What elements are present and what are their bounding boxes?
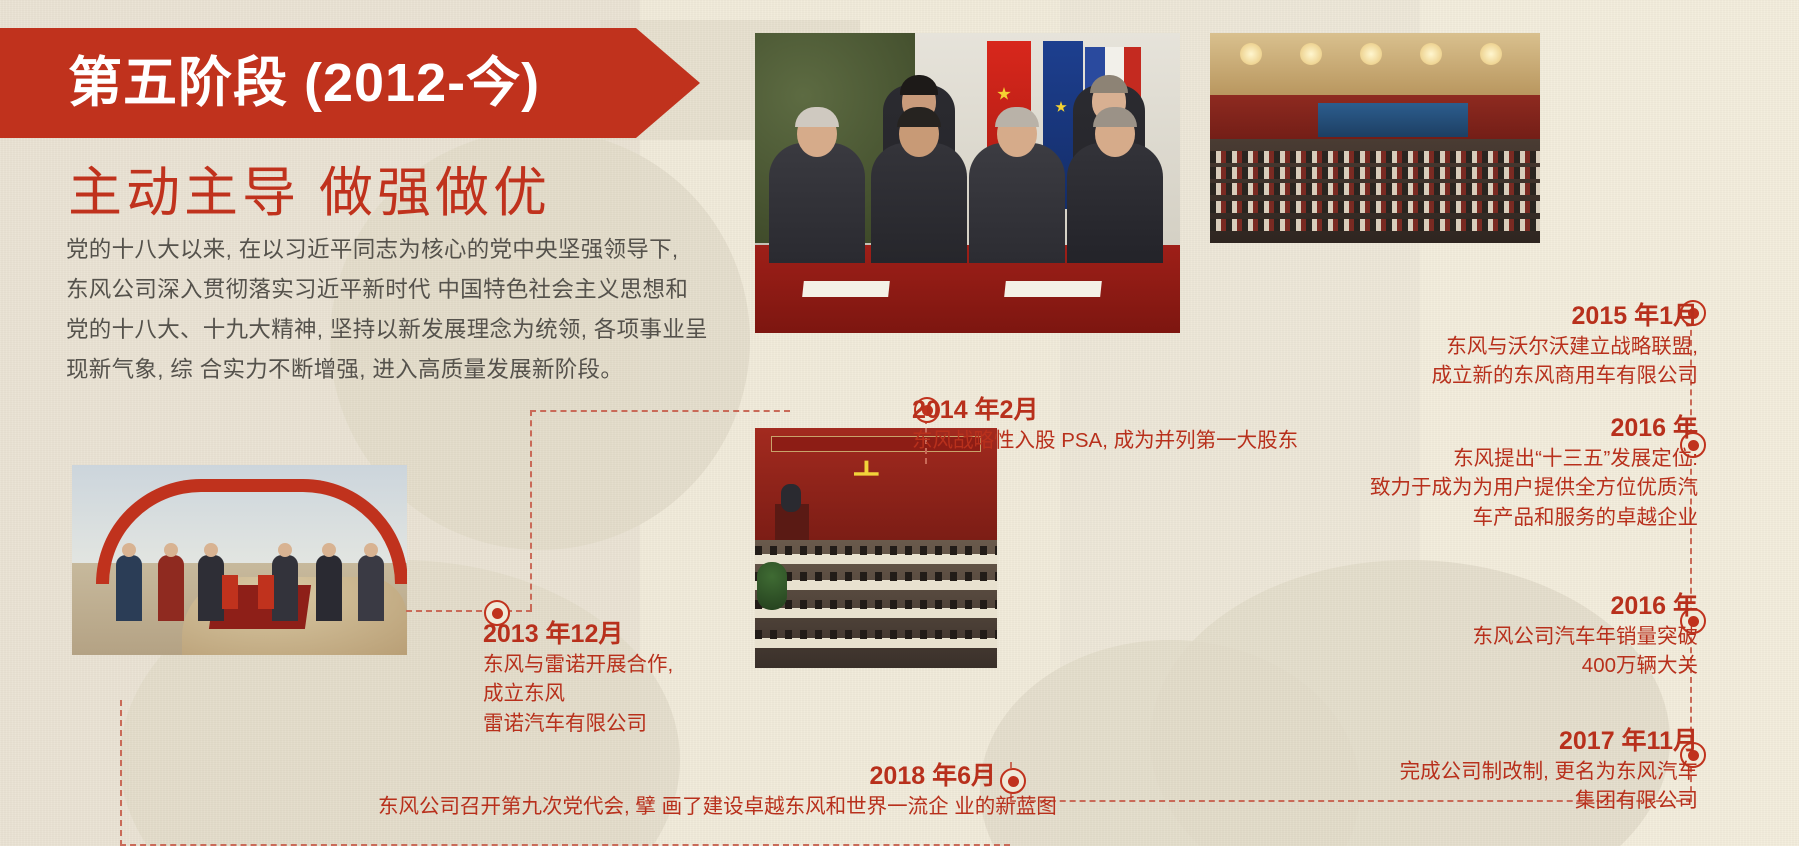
connector-2013-stub [406,610,532,612]
timeline-year-2018: 2018 年6月 [378,762,996,792]
intro-line-4: 现新气象, 综 合实力不断增强, 进入高质量发展新阶段。 [66,350,738,390]
timeline-desc-2016-plan-line1: 东风提出“十三五”发展定位: [1340,444,1698,474]
intro-line-1: 党的十八大以来, 在以习近平同志为核心的党中央坚强领导下, [66,230,738,270]
timeline-desc-2015-line2: 成立新的东风商用车有限公司 [1398,361,1698,391]
timeline-entry-2016-plan: 2016 年 东风提出“十三五”发展定位: 致力于成为为用户提供全方位优质汽 车… [1340,414,1698,533]
timeline-year-2013: 2013 年12月 [483,620,673,650]
timeline-year-2015: 2015 年1月 [1398,302,1698,332]
connector-2013-down [120,700,122,846]
intro-paragraph: 党的十八大以来, 在以习近平同志为核心的党中央坚强领导下, 东风公司深入贯彻落实… [66,230,738,390]
marker-2018[interactable] [1000,768,1026,794]
photo-party-congress [755,428,997,668]
page-headline: 主动主导 做强做优 [68,148,551,227]
timeline-desc-2013-line1: 东风与雷诺开展合作, [483,650,673,680]
timeline-entry-2014: 2014 年2月 东风战略性入股 PSA, 成为并列第一大股东 [912,396,1298,455]
timeline-desc-2014: 东风战略性入股 PSA, 成为并列第一大股东 [912,426,1298,456]
timeline-desc-2015-line1: 东风与沃尔沃建立战略联盟, [1398,332,1698,362]
intro-line-2: 东风公司深入贯彻落实习近平新时代 中国特色社会主义思想和 [66,270,738,310]
timeline-year-2016-sales: 2016 年 [1380,592,1698,622]
timeline-year-2016-plan: 2016 年 [1340,414,1698,444]
timeline-desc-2016-sales-line1: 东风公司汽车年销量突破 [1380,622,1698,652]
stage-banner: 第五阶段 (2012-今) [0,28,700,138]
timeline-entry-2017: 2017 年11月 完成公司制改制, 更名为东风汽车 集团有限公司 [1350,727,1698,816]
timeline-desc-2016-sales-line2: 400万辆大关 [1380,651,1698,681]
photo-xi-hollande-psa-signing [755,33,1180,333]
timeline-entry-2018: 2018 年6月 东风公司召开第九次党代会, 擘 画了建设卓越东风和世界一流企 … [378,762,996,821]
banner-title: 第五阶段 (2012-今) [68,56,540,110]
timeline-desc-2016-plan-line2: 致力于成为为用户提供全方位优质汽 [1340,473,1698,503]
timeline-desc-2016-plan-line3: 车产品和服务的卓越企业 [1340,503,1698,533]
timeline-year-2014: 2014 年2月 [912,396,1298,426]
timeline-desc-2017-line2: 集团有限公司 [1350,786,1698,816]
timeline-entry-2016-sales: 2016 年 东风公司汽车年销量突破 400万辆大关 [1380,592,1698,681]
photo-conference-hall [1210,33,1540,243]
timeline-desc-2018: 东风公司召开第九次党代会, 擘 画了建设卓越东风和世界一流企 业的新蓝图 [378,792,996,822]
connector-2014-vertical [530,410,532,610]
timeline-year-2017: 2017 年11月 [1350,727,1698,757]
connector-2014-to-2013 [530,410,790,412]
timeline-desc-2013-line3: 雷诺汽车有限公司 [483,709,673,739]
timeline-entry-2015: 2015 年1月 东风与沃尔沃建立战略联盟, 成立新的东风商用车有限公司 [1398,302,1698,391]
timeline-entry-2013: 2013 年12月 东风与雷诺开展合作, 成立东风 雷诺汽车有限公司 [483,620,673,739]
photo-renault-groundbreaking [72,465,407,655]
timeline-desc-2017-line1: 完成公司制改制, 更名为东风汽车 [1350,757,1698,787]
timeline-desc-2013-line2: 成立东风 [483,679,673,709]
infographic-canvas: 第五阶段 (2012-今) 主动主导 做强做优 党的十八大以来, 在以习近平同志… [0,0,1799,846]
intro-line-3: 党的十八大、十九大精神, 坚持以新发展理念为统领, 各项事业呈 [66,310,738,350]
